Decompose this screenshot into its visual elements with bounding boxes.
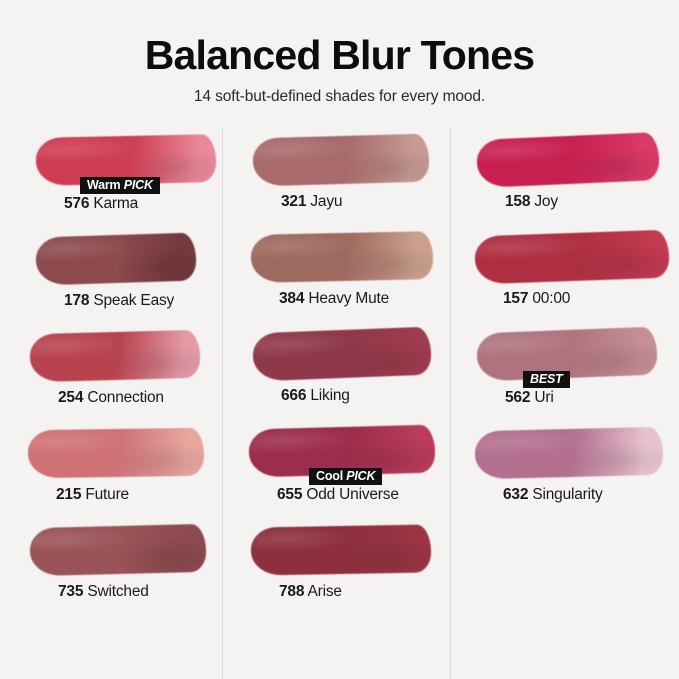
shade-item[interactable]: 666 Liking bbox=[243, 322, 450, 405]
shade-swatch bbox=[29, 330, 200, 382]
shade-label: 735 Switched bbox=[22, 583, 222, 601]
shade-swatch bbox=[35, 232, 196, 285]
shade-swatch bbox=[476, 132, 660, 188]
shade-label: 158 Joy bbox=[467, 193, 679, 211]
page-subtitle: 14 soft-but-defined shades for every moo… bbox=[0, 88, 679, 106]
shade-item[interactable]: 215 Future bbox=[22, 421, 222, 504]
shade-item[interactable]: 321 Jayu bbox=[243, 128, 450, 211]
badge-emphasis: BEST bbox=[530, 372, 563, 386]
swatch-area bbox=[243, 225, 450, 287]
badge-prefix: Cool bbox=[316, 469, 346, 483]
swatch-area bbox=[467, 421, 679, 483]
shade-name: Connection bbox=[83, 389, 164, 406]
shade-code: 384 bbox=[279, 290, 304, 307]
shade-name: Switched bbox=[83, 583, 148, 600]
shade-label: 666 Liking bbox=[243, 387, 450, 405]
shade-badge: BEST bbox=[523, 371, 570, 389]
shade-item[interactable]: BEST562 Uri bbox=[467, 322, 679, 407]
badge-row: Cool PICK bbox=[243, 468, 450, 485]
shade-label: 562 Uri bbox=[467, 389, 679, 407]
shade-swatch bbox=[28, 428, 205, 478]
shade-name: Joy bbox=[530, 193, 558, 210]
shade-item[interactable]: 254 Connection bbox=[22, 324, 222, 407]
shade-name: 00:00 bbox=[528, 290, 570, 307]
product-shade-chart: Balanced Blur Tones 14 soft-but-defined … bbox=[0, 0, 679, 679]
shade-column-1: Warm PICK576 Karma178 Speak Easy254 Conn… bbox=[0, 128, 222, 679]
shade-label: 254 Connection bbox=[22, 389, 222, 407]
shade-item[interactable]: 157 00:00 bbox=[467, 225, 679, 308]
shade-swatch bbox=[251, 231, 434, 283]
shade-swatch bbox=[252, 327, 432, 382]
shade-label: 788 Arise bbox=[243, 583, 450, 601]
shade-column-2: 321 Jayu384 Heavy Mute666 LikingCool PIC… bbox=[222, 128, 450, 679]
swatch-area bbox=[22, 227, 222, 289]
swatch-area bbox=[467, 128, 679, 190]
shade-item[interactable]: 158 Joy bbox=[467, 128, 679, 211]
shade-code: 157 bbox=[503, 290, 528, 307]
shade-label: 178 Speak Easy bbox=[22, 292, 222, 310]
shade-code: 562 bbox=[505, 389, 530, 406]
shade-name: Liking bbox=[306, 387, 349, 404]
shade-label: 215 Future bbox=[22, 486, 222, 504]
shade-label: 157 00:00 bbox=[467, 290, 679, 308]
shade-code: 178 bbox=[64, 292, 89, 309]
shade-label: 384 Heavy Mute bbox=[243, 290, 450, 308]
shade-code: 158 bbox=[505, 193, 530, 210]
shade-item[interactable]: 178 Speak Easy bbox=[22, 227, 222, 310]
shade-code: 666 bbox=[281, 387, 306, 404]
badge-prefix: Warm bbox=[87, 178, 124, 192]
swatch-area bbox=[22, 324, 222, 386]
shade-name: Singularity bbox=[528, 486, 602, 503]
shade-item[interactable]: Warm PICK576 Karma bbox=[22, 128, 222, 213]
swatch-area bbox=[467, 225, 679, 287]
shade-badge: Cool PICK bbox=[309, 468, 382, 486]
badge-emphasis: PICK bbox=[124, 178, 153, 192]
shade-grid: Warm PICK576 Karma178 Speak Easy254 Conn… bbox=[0, 128, 679, 679]
shade-code: 576 bbox=[64, 195, 89, 212]
shade-name: Karma bbox=[89, 195, 138, 212]
shade-swatch bbox=[251, 524, 432, 575]
shade-item[interactable]: Cool PICK655 Odd Universe bbox=[243, 419, 450, 504]
swatch-area bbox=[243, 322, 450, 384]
shade-column-3: 158 Joy157 00:00BEST562 Uri632 Singulari… bbox=[450, 128, 679, 679]
swatch-area bbox=[243, 128, 450, 190]
shade-name: Odd Universe bbox=[302, 486, 398, 503]
swatch-area bbox=[243, 518, 450, 580]
shade-label: 321 Jayu bbox=[243, 193, 450, 211]
shade-item[interactable]: 788 Arise bbox=[243, 518, 450, 601]
badge-emphasis: PICK bbox=[346, 469, 375, 483]
shade-swatch bbox=[474, 230, 670, 285]
shade-name: Future bbox=[81, 486, 129, 503]
shade-name: Uri bbox=[530, 389, 553, 406]
shade-item[interactable]: 735 Switched bbox=[22, 518, 222, 601]
shade-item[interactable]: 384 Heavy Mute bbox=[243, 225, 450, 308]
shade-item[interactable]: 632 Singularity bbox=[467, 421, 679, 504]
shade-code: 735 bbox=[58, 583, 83, 600]
shade-code: 788 bbox=[279, 583, 304, 600]
shade-name: Jayu bbox=[306, 193, 342, 210]
shade-code: 632 bbox=[503, 486, 528, 503]
page-header: Balanced Blur Tones 14 soft-but-defined … bbox=[0, 0, 679, 106]
badge-row: Warm PICK bbox=[22, 177, 222, 194]
shade-name: Speak Easy bbox=[89, 292, 174, 309]
shade-swatch bbox=[252, 134, 429, 187]
swatch-area bbox=[22, 518, 222, 580]
swatch-area bbox=[22, 421, 222, 483]
shade-label: 632 Singularity bbox=[467, 486, 679, 504]
badge-row: BEST bbox=[467, 371, 679, 388]
page-title: Balanced Blur Tones bbox=[0, 34, 679, 77]
shade-name: Arise bbox=[304, 583, 342, 600]
shade-code: 215 bbox=[56, 486, 81, 503]
shade-code: 655 bbox=[277, 486, 302, 503]
shade-badge: Warm PICK bbox=[80, 177, 160, 195]
shade-name: Heavy Mute bbox=[304, 290, 389, 307]
shade-code: 254 bbox=[58, 389, 83, 406]
shade-label: 576 Karma bbox=[22, 195, 222, 213]
shade-swatch bbox=[29, 524, 206, 576]
shade-swatch bbox=[474, 427, 663, 480]
shade-code: 321 bbox=[281, 193, 306, 210]
shade-label: 655 Odd Universe bbox=[243, 486, 450, 504]
